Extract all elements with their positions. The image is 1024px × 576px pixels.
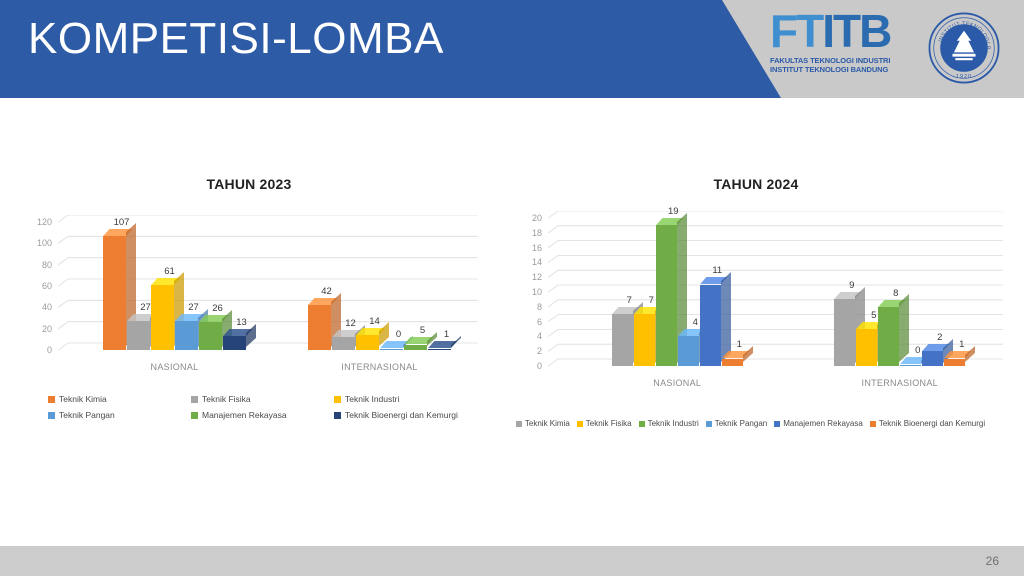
bar-value-label: 4 (693, 317, 698, 328)
bar-face (722, 359, 743, 366)
legend-label: Teknik Pangan (715, 419, 767, 428)
legend-swatch (191, 412, 198, 419)
bar-value-label: 0 (915, 345, 920, 356)
y-axis-tick: 20 (512, 213, 542, 223)
bar-value-label: 12 (345, 318, 356, 329)
legend-row: Teknik KimiaTeknik FisikaTeknik Industri (48, 394, 478, 410)
bar (656, 225, 677, 366)
y-axis-tick: 120 (22, 217, 52, 227)
itb-seal-icon: INSTITUT TEKNOLOGI BANDUNG 1920 (928, 12, 1000, 84)
plot-area: 0204060801001201072761272613NASIONAL4212… (58, 222, 478, 350)
legend-item[interactable]: Teknik Pangan (48, 410, 191, 420)
page-title: KOMPETISI-LOMBA (28, 14, 444, 64)
bar-face (175, 321, 198, 350)
y-axis-tick: 0 (22, 345, 52, 355)
legend-swatch (48, 396, 55, 403)
bar-face (856, 329, 877, 366)
bar-face (428, 349, 451, 351)
bar (878, 307, 899, 366)
bar (127, 321, 150, 350)
bar-side (899, 294, 909, 362)
bar (922, 351, 943, 366)
legend-swatch (334, 396, 341, 403)
bar-face (922, 351, 943, 366)
bar (944, 359, 965, 366)
legend-label: Teknik Bioenergi dan Kemurgi (345, 410, 458, 420)
category-label: INTERNASIONAL (862, 378, 938, 388)
y-axis-tick: 4 (512, 331, 542, 341)
bar-face (834, 299, 855, 366)
slide: KOMPETISI-LOMBA FTITB FAKULTAS TEKNOLOGI… (0, 0, 1024, 576)
header-underline (0, 98, 1024, 102)
y-axis-tick: 20 (22, 324, 52, 334)
bar (223, 336, 246, 350)
legend-item[interactable]: Teknik Bioenergi dan Kemurgi (334, 410, 477, 420)
logo-wordmark: FTITB (770, 8, 930, 54)
legend-item[interactable]: Manajemen Rekayasa (191, 410, 334, 420)
y-axis-tick: 6 (512, 317, 542, 327)
y-axis-tick: 16 (512, 243, 542, 253)
legend-item[interactable]: Teknik Industri (639, 419, 699, 428)
bar-face (223, 336, 246, 350)
y-axis-tick: 10 (512, 287, 542, 297)
bar-face (127, 321, 150, 350)
bar-value-label: 2 (937, 332, 942, 343)
bar (199, 322, 222, 350)
y-axis-tick: 80 (22, 260, 52, 270)
legend-swatch (334, 412, 341, 419)
bar (175, 321, 198, 350)
legend-item[interactable]: Teknik Bioenergi dan Kemurgi (870, 419, 985, 428)
bar-value-label: 61 (164, 266, 175, 277)
legend-swatch (706, 421, 712, 427)
logo-subtitle-line2: INSTITUT TEKNOLOGI BANDUNG (770, 65, 930, 74)
bar-face (634, 314, 655, 366)
bar (900, 365, 921, 367)
legend-label: Teknik Fisika (586, 419, 632, 428)
chart-legend: Teknik KimiaTeknik FisikaTeknik Industri… (48, 394, 478, 426)
chart-tahun-2024: TAHUN 2024 0246810121416182077194111NASI… (500, 176, 1012, 436)
legend-item[interactable]: Teknik Pangan (706, 419, 767, 428)
bar-face (678, 336, 699, 366)
bar-face (332, 337, 355, 350)
bar (722, 359, 743, 366)
legend-item[interactable]: Teknik Kimia (48, 394, 191, 404)
chart-legend: Teknik KimiaTeknik FisikaTeknik Industri… (494, 419, 1014, 428)
y-axis-tick: 12 (512, 272, 542, 282)
legend-label: Manajemen Rekayasa (202, 410, 287, 420)
bar (356, 335, 379, 350)
legend-swatch (639, 421, 645, 427)
legend-item[interactable]: Manajemen Rekayasa (774, 419, 863, 428)
bar-value-label: 27 (188, 302, 199, 313)
bar (404, 345, 427, 350)
bar-value-label: 7 (649, 295, 654, 306)
bar-value-label: 19 (668, 206, 679, 217)
legend-label: Teknik Fisika (202, 394, 251, 404)
footer-bar (0, 546, 1024, 576)
bar (380, 349, 403, 351)
y-axis-tick: 18 (512, 228, 542, 238)
legend-item[interactable]: Teknik Industri (334, 394, 477, 404)
category-label: INTERNASIONAL (341, 362, 417, 372)
logo-itb-text: ITB (822, 5, 890, 57)
bar-value-label: 5 (871, 310, 876, 321)
legend-label: Teknik Industri (648, 419, 699, 428)
plot-area: 0246810121416182077194111NASIONAL958021I… (548, 218, 1003, 366)
bar-face (944, 359, 965, 366)
legend-label: Teknik Pangan (59, 410, 115, 420)
category-label: NASIONAL (151, 362, 199, 372)
bar-face (656, 225, 677, 366)
bar (678, 336, 699, 366)
bar-value-label: 27 (140, 302, 151, 313)
bar-value-label: 1 (959, 339, 964, 350)
chart-title: TAHUN 2024 (500, 176, 1012, 192)
slide-header: KOMPETISI-LOMBA FTITB FAKULTAS TEKNOLOGI… (0, 0, 1024, 100)
bar-face (700, 285, 721, 366)
bar-value-label: 5 (420, 325, 425, 336)
bar-side (721, 272, 731, 362)
chart-tahun-2023: TAHUN 2023 0204060801001201072761272613N… (14, 176, 484, 436)
bar-face (878, 307, 899, 366)
bar-face (900, 365, 921, 367)
y-axis-tick: 14 (512, 257, 542, 267)
bar-value-label: 107 (114, 217, 130, 228)
page-number: 26 (986, 554, 999, 568)
logo-subtitle-line1: FAKULTAS TEKNOLOGI INDUSTRI (770, 56, 930, 65)
legend-label: Teknik Kimia (59, 394, 107, 404)
bar (856, 329, 877, 366)
bar-value-label: 26 (212, 303, 223, 314)
bar (103, 236, 126, 350)
legend-label: Teknik Kimia (525, 419, 570, 428)
bar-face (356, 335, 379, 350)
bar-value-label: 0 (396, 329, 401, 340)
bar (700, 285, 721, 366)
logo-subtitle: FAKULTAS TEKNOLOGI INDUSTRI INSTITUT TEK… (770, 56, 930, 74)
category-label: NASIONAL (653, 378, 701, 388)
bar (612, 314, 633, 366)
legend-swatch (191, 396, 198, 403)
y-axis-tick: 60 (22, 281, 52, 291)
bar-face (380, 349, 403, 351)
bar-value-label: 11 (712, 265, 722, 276)
bar-face (151, 285, 174, 350)
y-axis-tick: 8 (512, 302, 542, 312)
legend-swatch (577, 421, 583, 427)
y-axis-tick: 2 (512, 346, 542, 356)
bar (428, 349, 451, 351)
legend-swatch (774, 421, 780, 427)
bar-face (199, 322, 222, 350)
bar (308, 305, 331, 350)
bar-value-label: 7 (627, 295, 632, 306)
bar (151, 285, 174, 350)
bar-face (308, 305, 331, 350)
legend-item[interactable]: Teknik Fisika (191, 394, 334, 404)
bar (634, 314, 655, 366)
bar-value-label: 13 (236, 317, 247, 328)
y-axis-tick: 0 (512, 361, 542, 371)
fti-itb-logo: FTITB FAKULTAS TEKNOLOGI INDUSTRI INSTIT… (770, 8, 930, 90)
y-axis-tick: 40 (22, 302, 52, 312)
legend-label: Teknik Bioenergi dan Kemurgi (879, 419, 985, 428)
legend-label: Teknik Industri (345, 394, 399, 404)
logo-ft-text: FT (770, 5, 822, 57)
legend-item[interactable]: Teknik Fisika (577, 419, 632, 428)
bar-face (404, 345, 427, 350)
bar (834, 299, 855, 366)
bar-face (103, 236, 126, 350)
legend-swatch (516, 421, 522, 427)
legend-label: Manajemen Rekayasa (783, 419, 863, 428)
bar-value-label: 9 (849, 280, 854, 291)
legend-swatch (48, 412, 55, 419)
svg-text:1920: 1920 (956, 74, 972, 80)
bar (332, 337, 355, 350)
legend-swatch (870, 421, 876, 427)
legend-item[interactable]: Teknik Kimia (516, 419, 570, 428)
chart-title: TAHUN 2023 (14, 176, 484, 192)
bar-face (612, 314, 633, 366)
bar-value-label: 1 (444, 329, 449, 340)
bar-value-label: 1 (737, 339, 742, 350)
bar-value-label: 42 (321, 286, 332, 297)
y-axis-tick: 100 (22, 238, 52, 248)
bar-value-label: 14 (369, 316, 380, 327)
bar-value-label: 8 (893, 288, 898, 299)
legend-row: Teknik PanganManajemen RekayasaTeknik Bi… (48, 410, 478, 426)
